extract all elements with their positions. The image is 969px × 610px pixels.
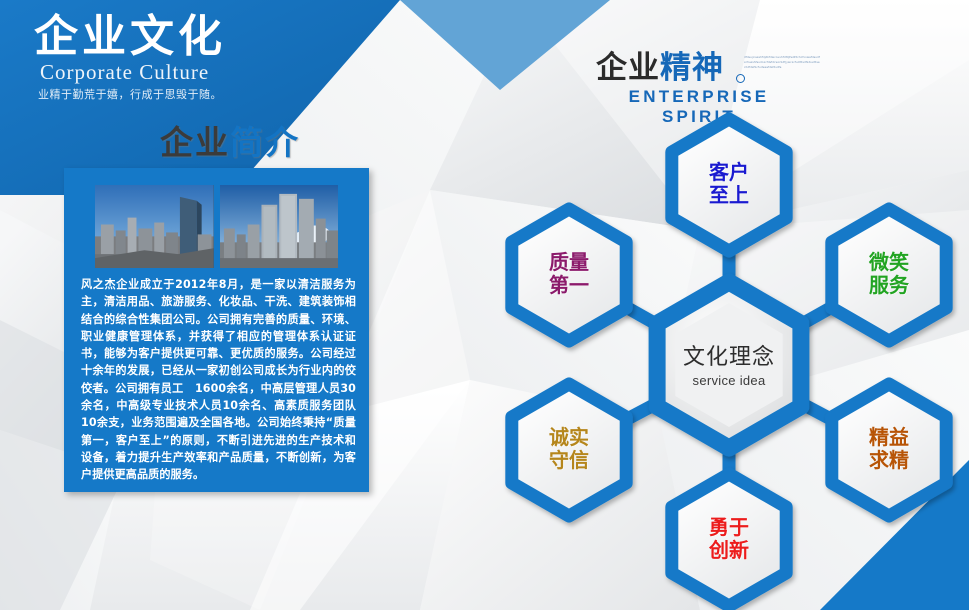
spirit-micro-text: dfdsujcxwehfdjdkfdwcnuvhfdfdjfwdfdchcfxn…	[744, 56, 820, 84]
hex-quality-first-shape	[512, 209, 626, 341]
intro-heading-blue: 简介	[230, 123, 300, 162]
poster-canvas: 企业文化 Corporate Culture 业精于勤荒于嬉，行成于思毁于随。 …	[0, 0, 969, 610]
hex-excellence-shape	[832, 384, 946, 516]
banner-title-cn: 企业文化	[34, 14, 226, 60]
hex-customer-first[interactable]	[672, 119, 786, 251]
spirit-heading-dark: 企业	[596, 50, 660, 86]
intro-heading: 企业简介	[160, 116, 300, 164]
company-intro-card: 风之杰企业成立于2012年8月，是一家以清洁服务为主，清洁用品、旅游服务、化妆品…	[64, 168, 369, 492]
hex-excellence[interactable]	[832, 384, 946, 516]
hex-integrity-shape	[512, 384, 626, 516]
intro-heading-dark: 企业	[160, 123, 230, 162]
cityscape-photo-right	[220, 185, 339, 268]
spirit-heading-blue: 精神	[660, 50, 724, 86]
hex-customer-first-shape	[672, 119, 786, 251]
hex-innovation[interactable]	[672, 474, 786, 606]
company-intro-text: 风之杰企业成立于2012年8月，是一家以清洁服务为主，清洁用品、旅游服务、化妆品…	[81, 276, 356, 484]
hex-center-title: 文化理念	[639, 339, 819, 371]
hex-innovation-shape	[672, 474, 786, 606]
hex-smile-service[interactable]	[832, 209, 946, 341]
card-photo-row	[95, 185, 338, 268]
hex-center-subtitle: service idea	[639, 373, 819, 388]
banner-title-en: Corporate Culture	[40, 60, 209, 85]
hex-integrity[interactable]	[512, 384, 626, 516]
hex-quality-first[interactable]	[512, 209, 626, 341]
cityscape-photo-left	[95, 185, 214, 268]
hex-smile-service-shape	[832, 209, 946, 341]
culture-hexagon-diagram: 客户 至上微笑 服务精益 求精勇于 创新诚实 守信质量 第一文化理念servic…	[489, 110, 969, 610]
banner-motto: 业精于勤荒于嬉，行成于思毁于随。	[38, 86, 222, 102]
